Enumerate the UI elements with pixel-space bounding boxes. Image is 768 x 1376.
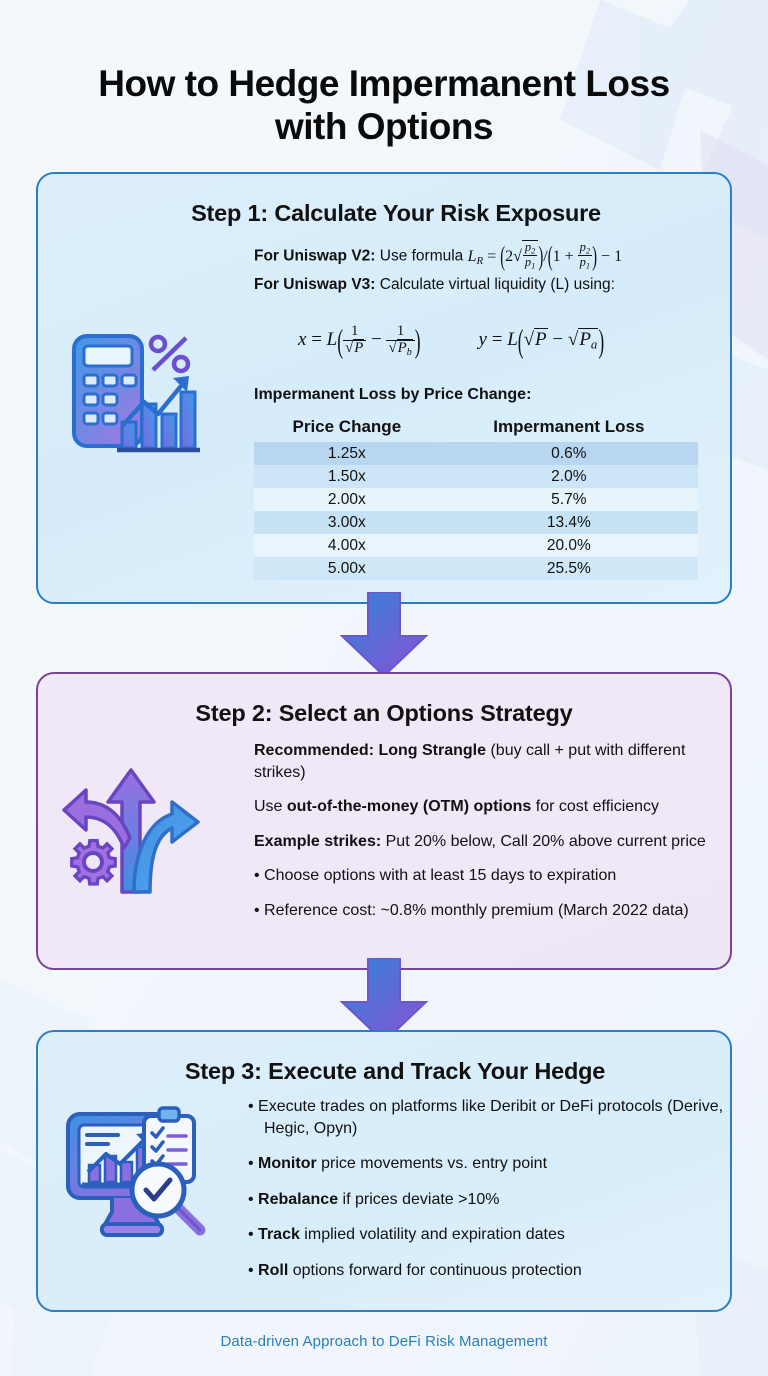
branching-arrows-gear-icon <box>60 762 202 898</box>
infographic-page: How to Hedge Impermanent Loss with Optio… <box>0 0 768 1376</box>
cell-price-change: 3.00x <box>254 511 440 534</box>
item-text: options forward for continuous protectio… <box>288 1262 582 1279</box>
step-3-item: • Execute trades on platforms like Derib… <box>248 1096 748 1139</box>
item-text: Execute trades on platforms like Deribit… <box>258 1098 723 1137</box>
item-bold: Roll <box>258 1262 288 1279</box>
cell-impermanent-loss: 20.0% <box>440 534 698 557</box>
cell-price-change: 5.00x <box>254 557 440 580</box>
bullet-marker: • <box>254 867 264 884</box>
formula-y: y = L(√P − √Pa) <box>479 329 605 353</box>
step-3-content: • Execute trades on platforms like Derib… <box>248 1096 748 1296</box>
item-text: price movements vs. entry point <box>317 1155 547 1172</box>
item-bold: Example strikes: <box>254 833 381 850</box>
step-1-liquidity-formulas: x = L(1√P − 1√Pb) y = L(√P − √Pa) <box>254 324 724 358</box>
table-row: 4.00x 20.0% <box>254 534 698 557</box>
il-table-title: Impermanent Loss by Price Change: <box>254 386 531 404</box>
uniswap-v2-formula: LR = (2√p2p1)/(1 + p2p1) − 1 <box>468 248 622 265</box>
item-text: Put 20% below, Call 20% above current pr… <box>381 833 706 850</box>
bullet-marker: • <box>248 1155 258 1172</box>
item-bold: Rebalance <box>258 1191 338 1208</box>
arrow-step1-to-step2 <box>338 592 430 678</box>
step-2-item: Recommended: Long Strangle (buy call + p… <box>254 740 740 783</box>
table-row: 5.00x 25.5% <box>254 557 698 580</box>
item-bold: Recommended: Long Strangle <box>254 742 486 759</box>
step-3-item: • Roll options forward for continuous pr… <box>248 1260 748 1282</box>
cell-price-change: 2.00x <box>254 488 440 511</box>
step-3-item: • Rebalance if prices deviate >10% <box>248 1189 748 1211</box>
step-1-formulas: For Uniswap V2: Use formula LR = (2√p2p1… <box>254 240 724 299</box>
uniswap-v2-line: For Uniswap V2: Use formula LR = (2√p2p1… <box>254 240 724 271</box>
item-text: Choose options with at least 15 days to … <box>264 867 616 884</box>
footer-caption: Data-driven Approach to DeFi Risk Manage… <box>0 1333 768 1350</box>
uniswap-v3-text: Calculate virtual liquidity (L) using: <box>380 276 615 293</box>
cell-price-change: 1.50x <box>254 465 440 488</box>
table-header-row: Price Change Impermanent Loss <box>254 414 698 442</box>
item-bold: Track <box>258 1226 300 1243</box>
column-header-price-change: Price Change <box>254 414 440 442</box>
calculator-chart-percent-icon <box>62 326 202 462</box>
item-bold: out-of-the-money (OTM) options <box>287 798 531 815</box>
table-row: 1.50x 2.0% <box>254 465 698 488</box>
bullet-marker: • <box>248 1191 258 1208</box>
cell-impermanent-loss: 13.4% <box>440 511 698 534</box>
uniswap-v3-line: For Uniswap V3: Calculate virtual liquid… <box>254 273 724 297</box>
cell-impermanent-loss: 5.7% <box>440 488 698 511</box>
table-row: 3.00x 13.4% <box>254 511 698 534</box>
uniswap-v2-text: Use formula <box>380 248 464 265</box>
step-1-heading: Step 1: Calculate Your Risk Exposure <box>62 174 730 227</box>
bullet-marker: • <box>248 1226 258 1243</box>
bullet-marker: • <box>248 1098 258 1115</box>
cell-price-change: 4.00x <box>254 534 440 557</box>
step-3-heading: Step 3: Execute and Track Your Hedge <box>60 1032 730 1085</box>
item-text: if prices deviate >10% <box>338 1191 499 1208</box>
formula-x: x = L(1√P − 1√Pb) <box>298 324 421 358</box>
table-row: 2.00x 5.7% <box>254 488 698 511</box>
cell-impermanent-loss: 0.6% <box>440 442 698 465</box>
cell-impermanent-loss: 25.5% <box>440 557 698 580</box>
cell-price-change: 1.25x <box>254 442 440 465</box>
column-header-impermanent-loss: Impermanent Loss <box>440 414 698 442</box>
table-row: 1.25x 0.6% <box>254 442 698 465</box>
step-2-heading: Step 2: Select an Options Strategy <box>38 674 730 727</box>
cell-impermanent-loss: 2.0% <box>440 465 698 488</box>
bullet-marker: • <box>248 1262 258 1279</box>
step-2-item: • Choose options with at least 15 days t… <box>254 865 740 887</box>
impermanent-loss-table: Price Change Impermanent Loss 1.25x 0.6%… <box>254 414 698 580</box>
item-text: Reference cost: ~0.8% monthly premium (M… <box>264 902 689 919</box>
step-2-content: Recommended: Long Strangle (buy call + p… <box>254 740 740 935</box>
item-text: implied volatility and expiration dates <box>300 1226 565 1243</box>
step-2-item: • Reference cost: ~0.8% monthly premium … <box>254 900 740 922</box>
page-title: How to Hedge Impermanent Loss with Optio… <box>0 0 768 149</box>
step-3-item: • Track implied volatility and expiratio… <box>248 1224 748 1246</box>
item-pre: Use <box>254 798 287 815</box>
step-2-item: Example strikes: Put 20% below, Call 20%… <box>254 831 740 853</box>
uniswap-v3-label: For Uniswap V3: <box>254 276 375 293</box>
monitor-chart-clipboard-magnifier-icon <box>60 1102 208 1240</box>
bullet-marker: • <box>254 902 264 919</box>
step-2-item: Use out-of-the-money (OTM) options for c… <box>254 796 740 818</box>
uniswap-v2-label: For Uniswap V2: <box>254 248 375 265</box>
item-text: for cost efficiency <box>531 798 659 815</box>
item-bold: Monitor <box>258 1155 317 1172</box>
step-3-item: • Monitor price movements vs. entry poin… <box>248 1153 748 1175</box>
